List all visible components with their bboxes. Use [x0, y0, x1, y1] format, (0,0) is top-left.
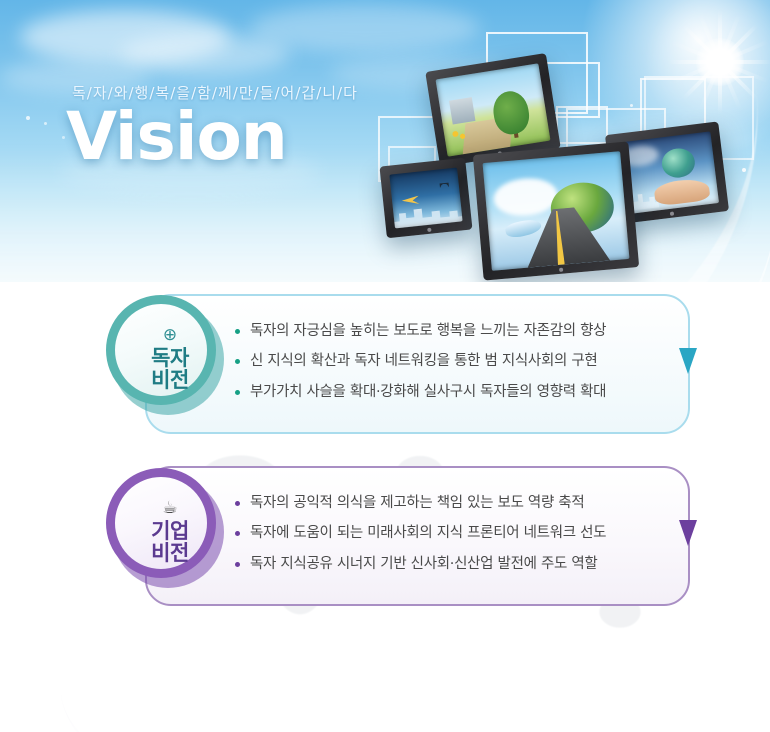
page-title: Vision	[66, 104, 287, 170]
corporate-vision-bullet-list: 독자의 공익적 의식을 제고하는 책임 있는 보도 역량 축적 독자에 도움이 …	[235, 492, 665, 583]
bottom-ribbon-decoration	[0, 595, 770, 732]
panel-arrow-marker	[679, 520, 697, 546]
bullet-dot-icon	[235, 359, 240, 364]
sparkle-decoration	[630, 104, 633, 107]
reader-vision-badge: ⊕ 독자 비전	[106, 295, 224, 413]
list-item: 독자 지식공유 시너지 기반 신사회·신산업 발전에 주도 역할	[235, 553, 665, 575]
reader-vision-panel: 독자의 자긍심을 높히는 보도로 행복을 느끼는 자존감의 향상 신 지식의 확…	[145, 294, 690, 434]
bullet-text: 부가가치 사슬을 확대·강화해 실사구시 독자들의 영향력 확대	[250, 381, 606, 403]
corporate-vision-badge: ☕ 기업 비전	[106, 468, 224, 586]
road-photo-frame	[473, 141, 639, 280]
coffee-cup-icon: ☕	[162, 500, 177, 517]
cloud-decoration	[250, 4, 480, 52]
bullet-text: 독자의 자긍심을 높히는 보도로 행복을 느끼는 자존감의 향상	[250, 320, 606, 342]
list-item: 독자의 자긍심을 높히는 보도로 행복을 느끼는 자존감의 향상	[235, 320, 665, 342]
sparkle-decoration	[44, 122, 47, 125]
list-item: 독자의 공익적 의식을 제고하는 책임 있는 보도 역량 축적	[235, 492, 665, 514]
list-item: 독자에 도움이 되는 미래사회의 지식 프론티어 네트워크 선도	[235, 522, 665, 544]
badge-label-line1: 기업	[151, 520, 189, 542]
corporate-vision-panel: 독자의 공익적 의식을 제고하는 책임 있는 보도 역량 축적 독자에 도움이 …	[145, 466, 690, 606]
bullet-dot-icon	[235, 531, 240, 536]
list-item: 신 지식의 확산과 독자 네트워킹을 통한 범 지식사회의 구현	[235, 350, 665, 372]
bullet-text: 독자의 공익적 의식을 제고하는 책임 있는 보도 역량 축적	[250, 492, 584, 514]
globe-icon: ⊕	[163, 327, 177, 344]
vision-page: 독/자/와/행/복/을/함/께/만/들/어/갑/니/다 Vision 독자의 자…	[0, 0, 770, 732]
city-photo-frame	[379, 158, 472, 239]
list-item: 부가가치 사슬을 확대·강화해 실사구시 독자들의 영향력 확대	[235, 381, 665, 403]
bullet-text: 독자에 도움이 되는 미래사회의 지식 프론티어 네트워크 선도	[250, 522, 606, 544]
badge-label-line1: 독자	[151, 347, 189, 369]
sparkle-decoration	[742, 168, 746, 172]
bullet-dot-icon	[235, 562, 240, 567]
bullet-dot-icon	[235, 390, 240, 395]
bullet-text: 신 지식의 확산과 독자 네트워킹을 통한 범 지식사회의 구현	[250, 350, 597, 372]
bullet-dot-icon	[235, 329, 240, 334]
reader-vision-bullet-list: 독자의 자긍심을 높히는 보도로 행복을 느끼는 자존감의 향상 신 지식의 확…	[235, 320, 665, 411]
panel-arrow-marker	[679, 348, 697, 374]
hero-banner: 독/자/와/행/복/을/함/께/만/들/어/갑/니/다 Vision	[0, 0, 770, 282]
badge-label-line2: 비전	[151, 369, 189, 391]
bullet-dot-icon	[235, 501, 240, 506]
sparkle-decoration	[62, 136, 65, 139]
sparkle-decoration	[26, 116, 30, 120]
bullet-text: 독자 지식공유 시너지 기반 신사회·신산업 발전에 주도 역할	[250, 553, 597, 575]
badge-label-line2: 비전	[151, 542, 189, 564]
